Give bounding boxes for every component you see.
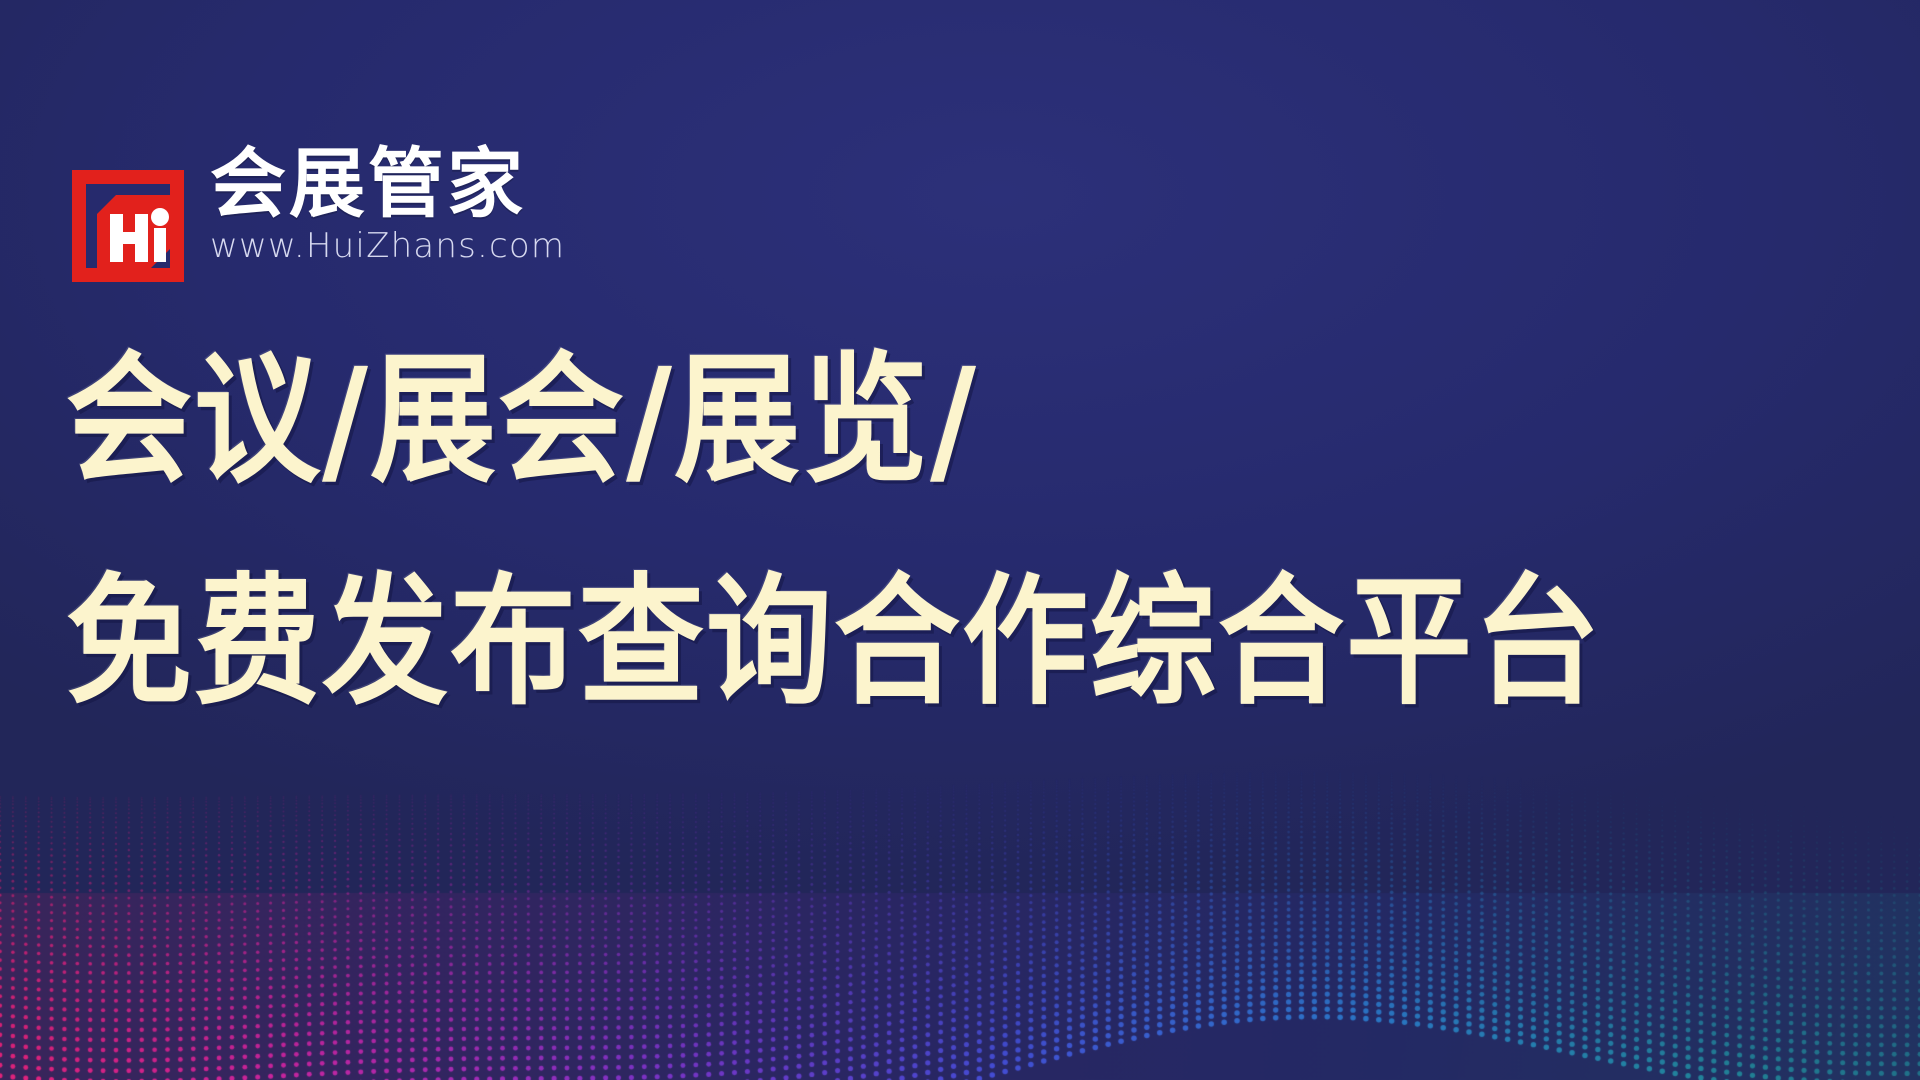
headline-block: 会议/展会/展览/ 免费发布查询合作综合平台 — [66, 350, 1826, 698]
hi-bracket-logo-mark-icon — [72, 170, 184, 282]
brand-logo[interactable]: 会展管家 www.HuiZhans.com — [72, 148, 565, 282]
particle-wave-graphic — [0, 740, 1920, 1080]
headline-line-1: 会议/展会/展览/ — [66, 350, 1826, 491]
brand-wordmark: 会展管家 www.HuiZhans.com — [210, 148, 565, 263]
particle-wave-canvas — [0, 740, 1920, 1080]
promo-banner: 会展管家 www.HuiZhans.com 会议/展会/展览/ 免费发布查询合作… — [0, 0, 1920, 1080]
brand-name-text: 会展管家 — [210, 148, 565, 221]
headline-line-2: 免费发布查询合作综合平台 — [66, 572, 1826, 713]
brand-url-text[interactable]: www.HuiZhans.com — [210, 229, 565, 263]
